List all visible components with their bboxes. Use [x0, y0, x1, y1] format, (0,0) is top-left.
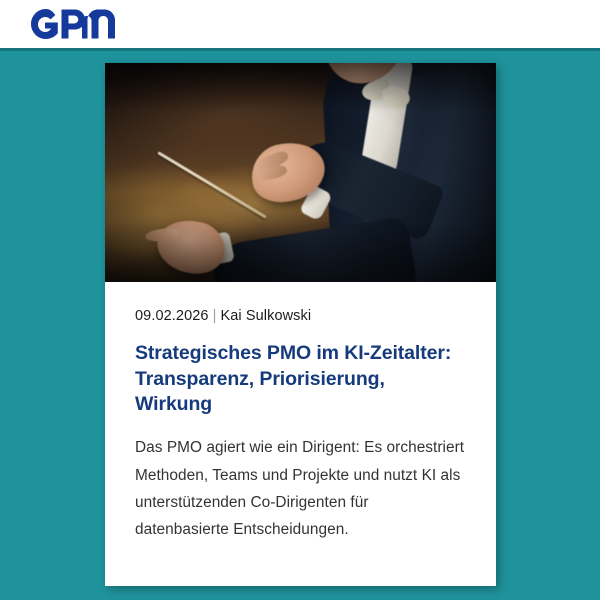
article-meta-separator: | — [209, 308, 221, 324]
gpm-logo-icon — [31, 9, 115, 39]
article-card-body: 09.02.2026|Kai Sulkowski Strategisches P… — [105, 282, 496, 544]
photo-vignette — [105, 63, 496, 282]
site-header: GPM — [0, 0, 600, 48]
header-bottom-rule — [0, 48, 600, 51]
gpm-logo[interactable]: GPM — [31, 9, 115, 39]
article-excerpt: Das PMO agiert wie ein Dirigent: Es orch… — [135, 434, 466, 544]
article-meta: 09.02.2026|Kai Sulkowski — [135, 308, 466, 324]
article-title[interactable]: Strategisches PMO im KI-Zeitalter: Trans… — [135, 341, 466, 418]
article-author[interactable]: Kai Sulkowski — [220, 308, 311, 324]
article-date: 09.02.2026 — [135, 308, 209, 324]
article-card[interactable]: 09.02.2026|Kai Sulkowski Strategisches P… — [105, 63, 496, 586]
page-root: GPM — [0, 0, 600, 600]
article-image[interactable] — [105, 63, 496, 282]
